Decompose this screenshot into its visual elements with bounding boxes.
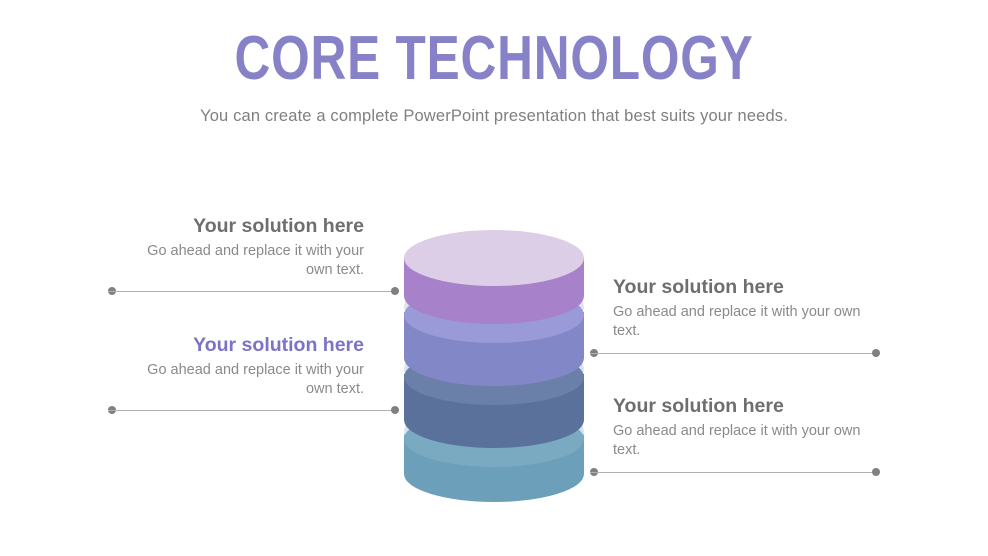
connector-dot-icon [391,406,399,414]
callout-body: Go ahead and replace it with your own te… [118,361,364,399]
callout-right-bottom: Your solution here Go ahead and replace … [613,394,873,460]
cylinder-segment-purple [404,230,584,324]
page-title: CORE TECHNOLOGY [99,24,889,94]
connector-left-bottom [108,406,399,415]
callout-heading: Your solution here [613,394,873,419]
callout-body: Go ahead and replace it with your own te… [118,242,364,280]
callout-heading: Your solution here [118,214,364,239]
slide-canvas: CORE TECHNOLOGY You can create a complet… [0,0,988,556]
callout-heading: Your solution here [118,333,364,358]
connector-dot-icon [872,349,880,357]
connector-left-top [108,287,399,296]
callout-body: Go ahead and replace it with your own te… [613,422,873,460]
connector-right-top [590,349,880,358]
callout-right-top: Your solution here Go ahead and replace … [613,275,873,341]
callout-heading: Your solution here [613,275,873,300]
connector-dot-icon [872,468,880,476]
connector-line [590,472,880,473]
callout-body: Go ahead and replace it with your own te… [613,303,873,341]
connector-right-bottom [590,468,880,477]
stacked-cylinder-diagram [404,228,584,504]
page-subtitle: You can create a complete PowerPoint pre… [0,105,988,127]
callout-left-bottom: Your solution here Go ahead and replace … [118,333,364,399]
connector-line [590,353,880,354]
connector-line [108,410,399,411]
connector-line [108,291,399,292]
connector-dot-icon [391,287,399,295]
callout-left-top: Your solution here Go ahead and replace … [118,214,364,280]
